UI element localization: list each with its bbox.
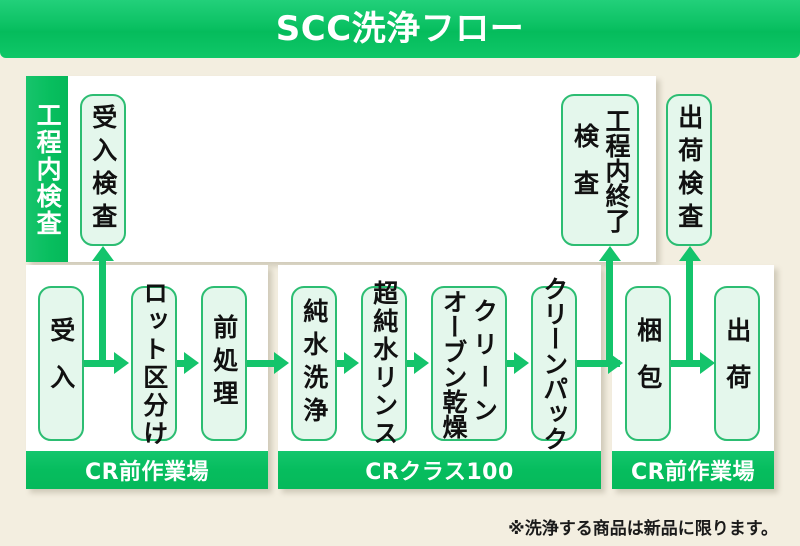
arrow-head-up-to-process-completion-inspection bbox=[599, 246, 621, 261]
inspection-band-label: 工程内検査 bbox=[34, 102, 60, 237]
inspection-box-process-completion[interactable]: 工程内終了 検査 bbox=[561, 94, 639, 246]
footnote: ※洗浄する商品は新品に限ります。 bbox=[508, 514, 778, 539]
arrow-head-pure-water-wash-to-ultrapure-rinse bbox=[344, 352, 359, 374]
process-box-ultrapure-water-rinse[interactable]: 超純水リンス bbox=[361, 286, 407, 441]
arrow-head-lot-sorting-to-pre-treatment bbox=[184, 352, 199, 374]
arrow-head-ultrapure-rinse-to-clean-oven-dry bbox=[414, 352, 429, 374]
process-box-clean-oven-dry[interactable]: クリーン オーブン乾燥 bbox=[431, 286, 507, 441]
arrow-up-to-process-completion-inspection bbox=[606, 261, 613, 364]
process-box-pre-treatment-label: 前処理 bbox=[209, 314, 239, 413]
process-box-pre-treatment[interactable]: 前処理 bbox=[201, 286, 247, 441]
arrow-head-packing-to-shipping bbox=[700, 352, 715, 374]
process-box-packing[interactable]: 梱包 bbox=[625, 286, 671, 441]
process-box-pure-water-wash[interactable]: 純水洗浄 bbox=[291, 286, 337, 441]
process-box-shipping-label: 出荷 bbox=[722, 317, 752, 411]
arrow-pre-treatment-to-pure-water-wash bbox=[247, 360, 276, 367]
process-box-pure-water-wash-label: 純水洗浄 bbox=[299, 298, 329, 430]
arrow-up-to-shipping-inspection bbox=[686, 261, 693, 364]
arrow-head-clean-oven-dry-to-clean-pack bbox=[514, 352, 529, 374]
process-box-lot-sorting-label: ロット区分け bbox=[139, 280, 169, 448]
process-box-packing-label: 梱包 bbox=[633, 317, 663, 411]
page-title: SCC洗浄フロー bbox=[276, 12, 524, 46]
group-footer-cr-class-100: CRクラス100 bbox=[278, 451, 601, 489]
group-footer-cr-pre-work-area-2: CR前作業場 bbox=[612, 451, 774, 489]
process-box-receiving-label: 受入 bbox=[46, 317, 76, 411]
process-box-shipping[interactable]: 出荷 bbox=[714, 286, 760, 441]
header-bar: SCC洗浄フロー bbox=[0, 0, 800, 58]
inspection-box-process-completion-label-right: 工程内終了 bbox=[603, 108, 631, 233]
arrow-up-to-receiving-inspection bbox=[99, 261, 106, 364]
process-box-clean-pack-label: クリーンパック bbox=[540, 276, 568, 451]
inspection-box-receiving[interactable]: 受入検査 bbox=[80, 94, 126, 246]
process-box-receiving[interactable]: 受入 bbox=[38, 286, 84, 441]
inspection-band: 工程内検査 bbox=[26, 76, 68, 262]
process-box-clean-oven-dry-label-left: オーブン乾燥 bbox=[440, 289, 468, 439]
arrow-head-up-to-shipping-inspection bbox=[679, 246, 701, 261]
arrow-head-receiving-to-lot-sorting bbox=[114, 352, 129, 374]
inspection-box-receiving-label: 受入検査 bbox=[88, 104, 118, 236]
process-box-clean-pack[interactable]: クリーンパック bbox=[531, 286, 577, 441]
inspection-box-shipping[interactable]: 出荷検査 bbox=[666, 94, 712, 246]
group-footer-label: CRクラス100 bbox=[365, 454, 514, 486]
group-footer-label: CR前作業場 bbox=[631, 454, 755, 486]
arrow-head-up-to-receiving-inspection bbox=[92, 246, 114, 261]
process-box-ultrapure-water-rinse-label: 超純水リンス bbox=[369, 280, 399, 448]
group-footer-label: CR前作業場 bbox=[85, 454, 209, 486]
inspection-box-process-completion-label-left: 検査 bbox=[570, 123, 600, 217]
process-box-lot-sorting[interactable]: ロット区分け bbox=[131, 286, 177, 441]
arrow-head-pre-treatment-to-pure-water-wash bbox=[274, 352, 289, 374]
group-footer-cr-pre-work-area-1: CR前作業場 bbox=[26, 451, 268, 489]
process-box-clean-oven-dry-label-right: クリーン bbox=[469, 298, 499, 430]
inspection-box-shipping-label: 出荷検査 bbox=[674, 104, 704, 236]
